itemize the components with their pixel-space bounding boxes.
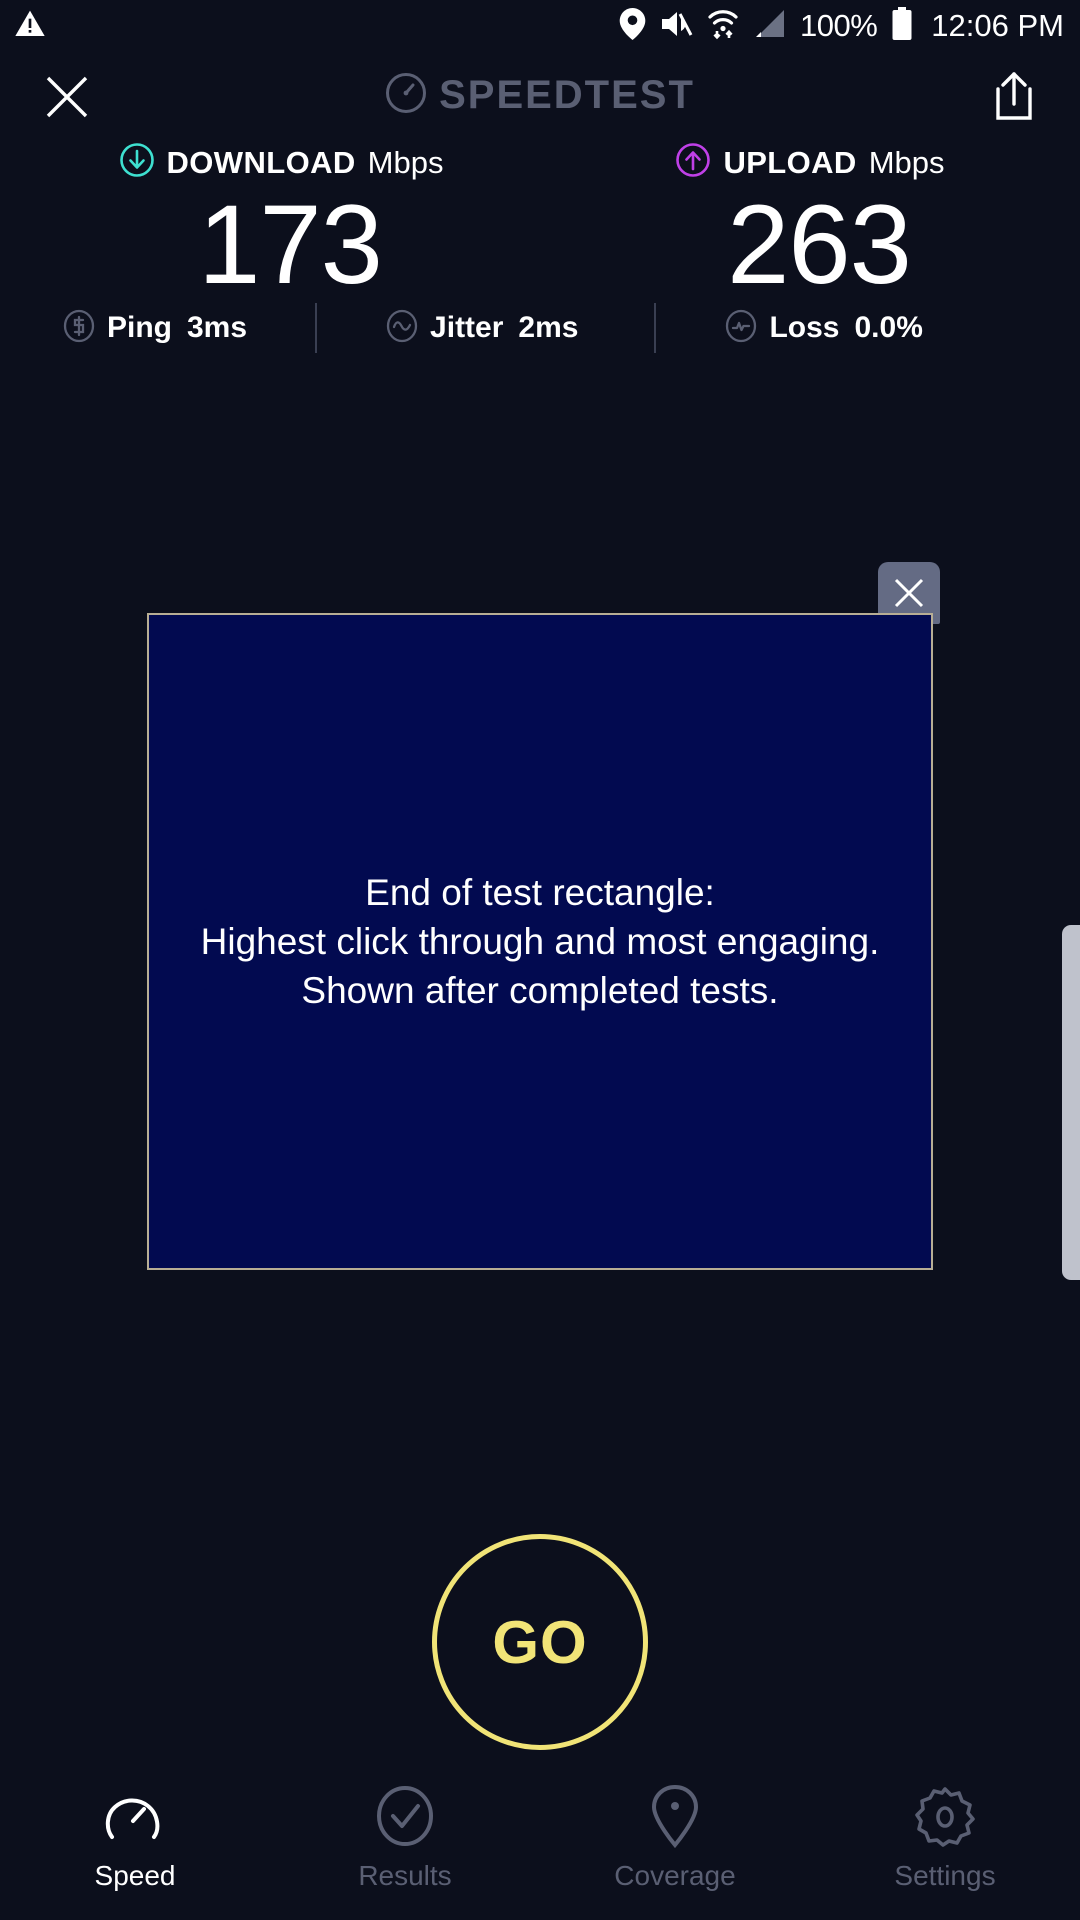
share-button[interactable] xyxy=(984,66,1044,128)
results-panel: DOWNLOAD Mbps 173 UPLOAD Mbps 263 xyxy=(0,142,1080,301)
map-pin-icon xyxy=(650,1784,700,1848)
upload-metric: UPLOAD Mbps 263 xyxy=(540,142,1080,301)
divider xyxy=(315,303,317,353)
nav-label-settings: Settings xyxy=(894,1860,995,1892)
wifi-transfer-icon xyxy=(708,8,738,45)
upload-value: 263 xyxy=(727,189,911,301)
loss-label: Loss xyxy=(769,311,839,345)
advertisement-banner[interactable]: End of test rectangle: Highest click thr… xyxy=(147,613,933,1270)
download-unit: Mbps xyxy=(368,145,444,181)
upload-unit: Mbps xyxy=(869,145,945,181)
go-button-label: GO xyxy=(492,1608,587,1677)
ad-line-1: End of test rectangle: xyxy=(201,868,880,917)
download-label: DOWNLOAD xyxy=(167,145,356,181)
location-pin-icon xyxy=(619,8,646,45)
ping-metric: Ping 3ms xyxy=(62,309,247,348)
status-bar-right: 100% 12:06 PM xyxy=(619,7,1064,46)
nav-item-speed[interactable]: Speed xyxy=(0,1784,270,1892)
nav-label-speed: Speed xyxy=(95,1860,176,1892)
nav-label-results: Results xyxy=(358,1860,451,1892)
download-upload-row: DOWNLOAD Mbps 173 UPLOAD Mbps 263 xyxy=(0,142,1080,301)
clock-label: 12:06 PM xyxy=(931,8,1064,44)
upload-arrow-icon xyxy=(675,142,711,183)
jitter-value: 2ms xyxy=(518,311,578,345)
bottom-navigation: Speed Results Coverage Settings xyxy=(0,1770,1080,1920)
check-circle-icon xyxy=(375,1784,435,1848)
upload-label: UPLOAD xyxy=(723,145,856,181)
ping-value: 3ms xyxy=(187,311,247,345)
ad-line-2: Highest click through and most engaging. xyxy=(201,917,880,966)
speedometer-icon xyxy=(104,1784,166,1848)
jitter-metric: Jitter 2ms xyxy=(385,309,578,348)
ping-label: Ping xyxy=(107,311,172,345)
nav-item-results[interactable]: Results xyxy=(270,1784,540,1892)
ad-text: End of test rectangle: Highest click thr… xyxy=(201,868,880,1016)
app-header: SPEEDTEST xyxy=(0,52,1080,142)
loss-icon xyxy=(724,309,758,348)
status-bar-left xyxy=(14,8,46,45)
download-metric: DOWNLOAD Mbps 173 xyxy=(0,142,540,301)
ping-icon xyxy=(62,309,96,348)
ad-line-3: Shown after completed tests. xyxy=(201,966,880,1015)
ad-close-icon xyxy=(892,576,926,610)
go-button[interactable]: GO xyxy=(432,1534,648,1750)
share-upload-icon xyxy=(992,72,1036,122)
cell-signal-icon xyxy=(752,9,786,44)
download-header: DOWNLOAD Mbps xyxy=(119,142,444,183)
page-title-text: SPEEDTEST xyxy=(439,73,695,118)
upload-header: UPLOAD Mbps xyxy=(675,142,944,183)
download-value: 173 xyxy=(198,189,382,301)
nav-item-coverage[interactable]: Coverage xyxy=(540,1784,810,1892)
volume-mute-icon xyxy=(660,9,694,44)
nav-item-settings[interactable]: Settings xyxy=(810,1784,1080,1892)
loss-metric: Loss 0.0% xyxy=(724,309,922,348)
status-bar: 100% 12:06 PM xyxy=(0,0,1080,52)
speedometer-icon xyxy=(385,72,427,119)
ping-jitter-loss-row: Ping 3ms Jitter 2ms Loss 0.0% xyxy=(0,300,1080,356)
battery-percent-label: 100% xyxy=(800,8,877,44)
battery-full-icon xyxy=(891,7,913,46)
jitter-label: Jitter xyxy=(430,311,503,345)
jitter-wave-icon xyxy=(385,309,419,348)
vertical-scrollbar[interactable] xyxy=(1062,925,1080,1280)
nav-label-coverage: Coverage xyxy=(614,1860,735,1892)
divider xyxy=(654,303,656,353)
download-arrow-icon xyxy=(119,142,155,183)
loss-value: 0.0% xyxy=(854,311,922,345)
page-title: SPEEDTEST xyxy=(0,72,1080,119)
warning-triangle-icon xyxy=(14,8,46,45)
gear-icon xyxy=(914,1784,976,1848)
